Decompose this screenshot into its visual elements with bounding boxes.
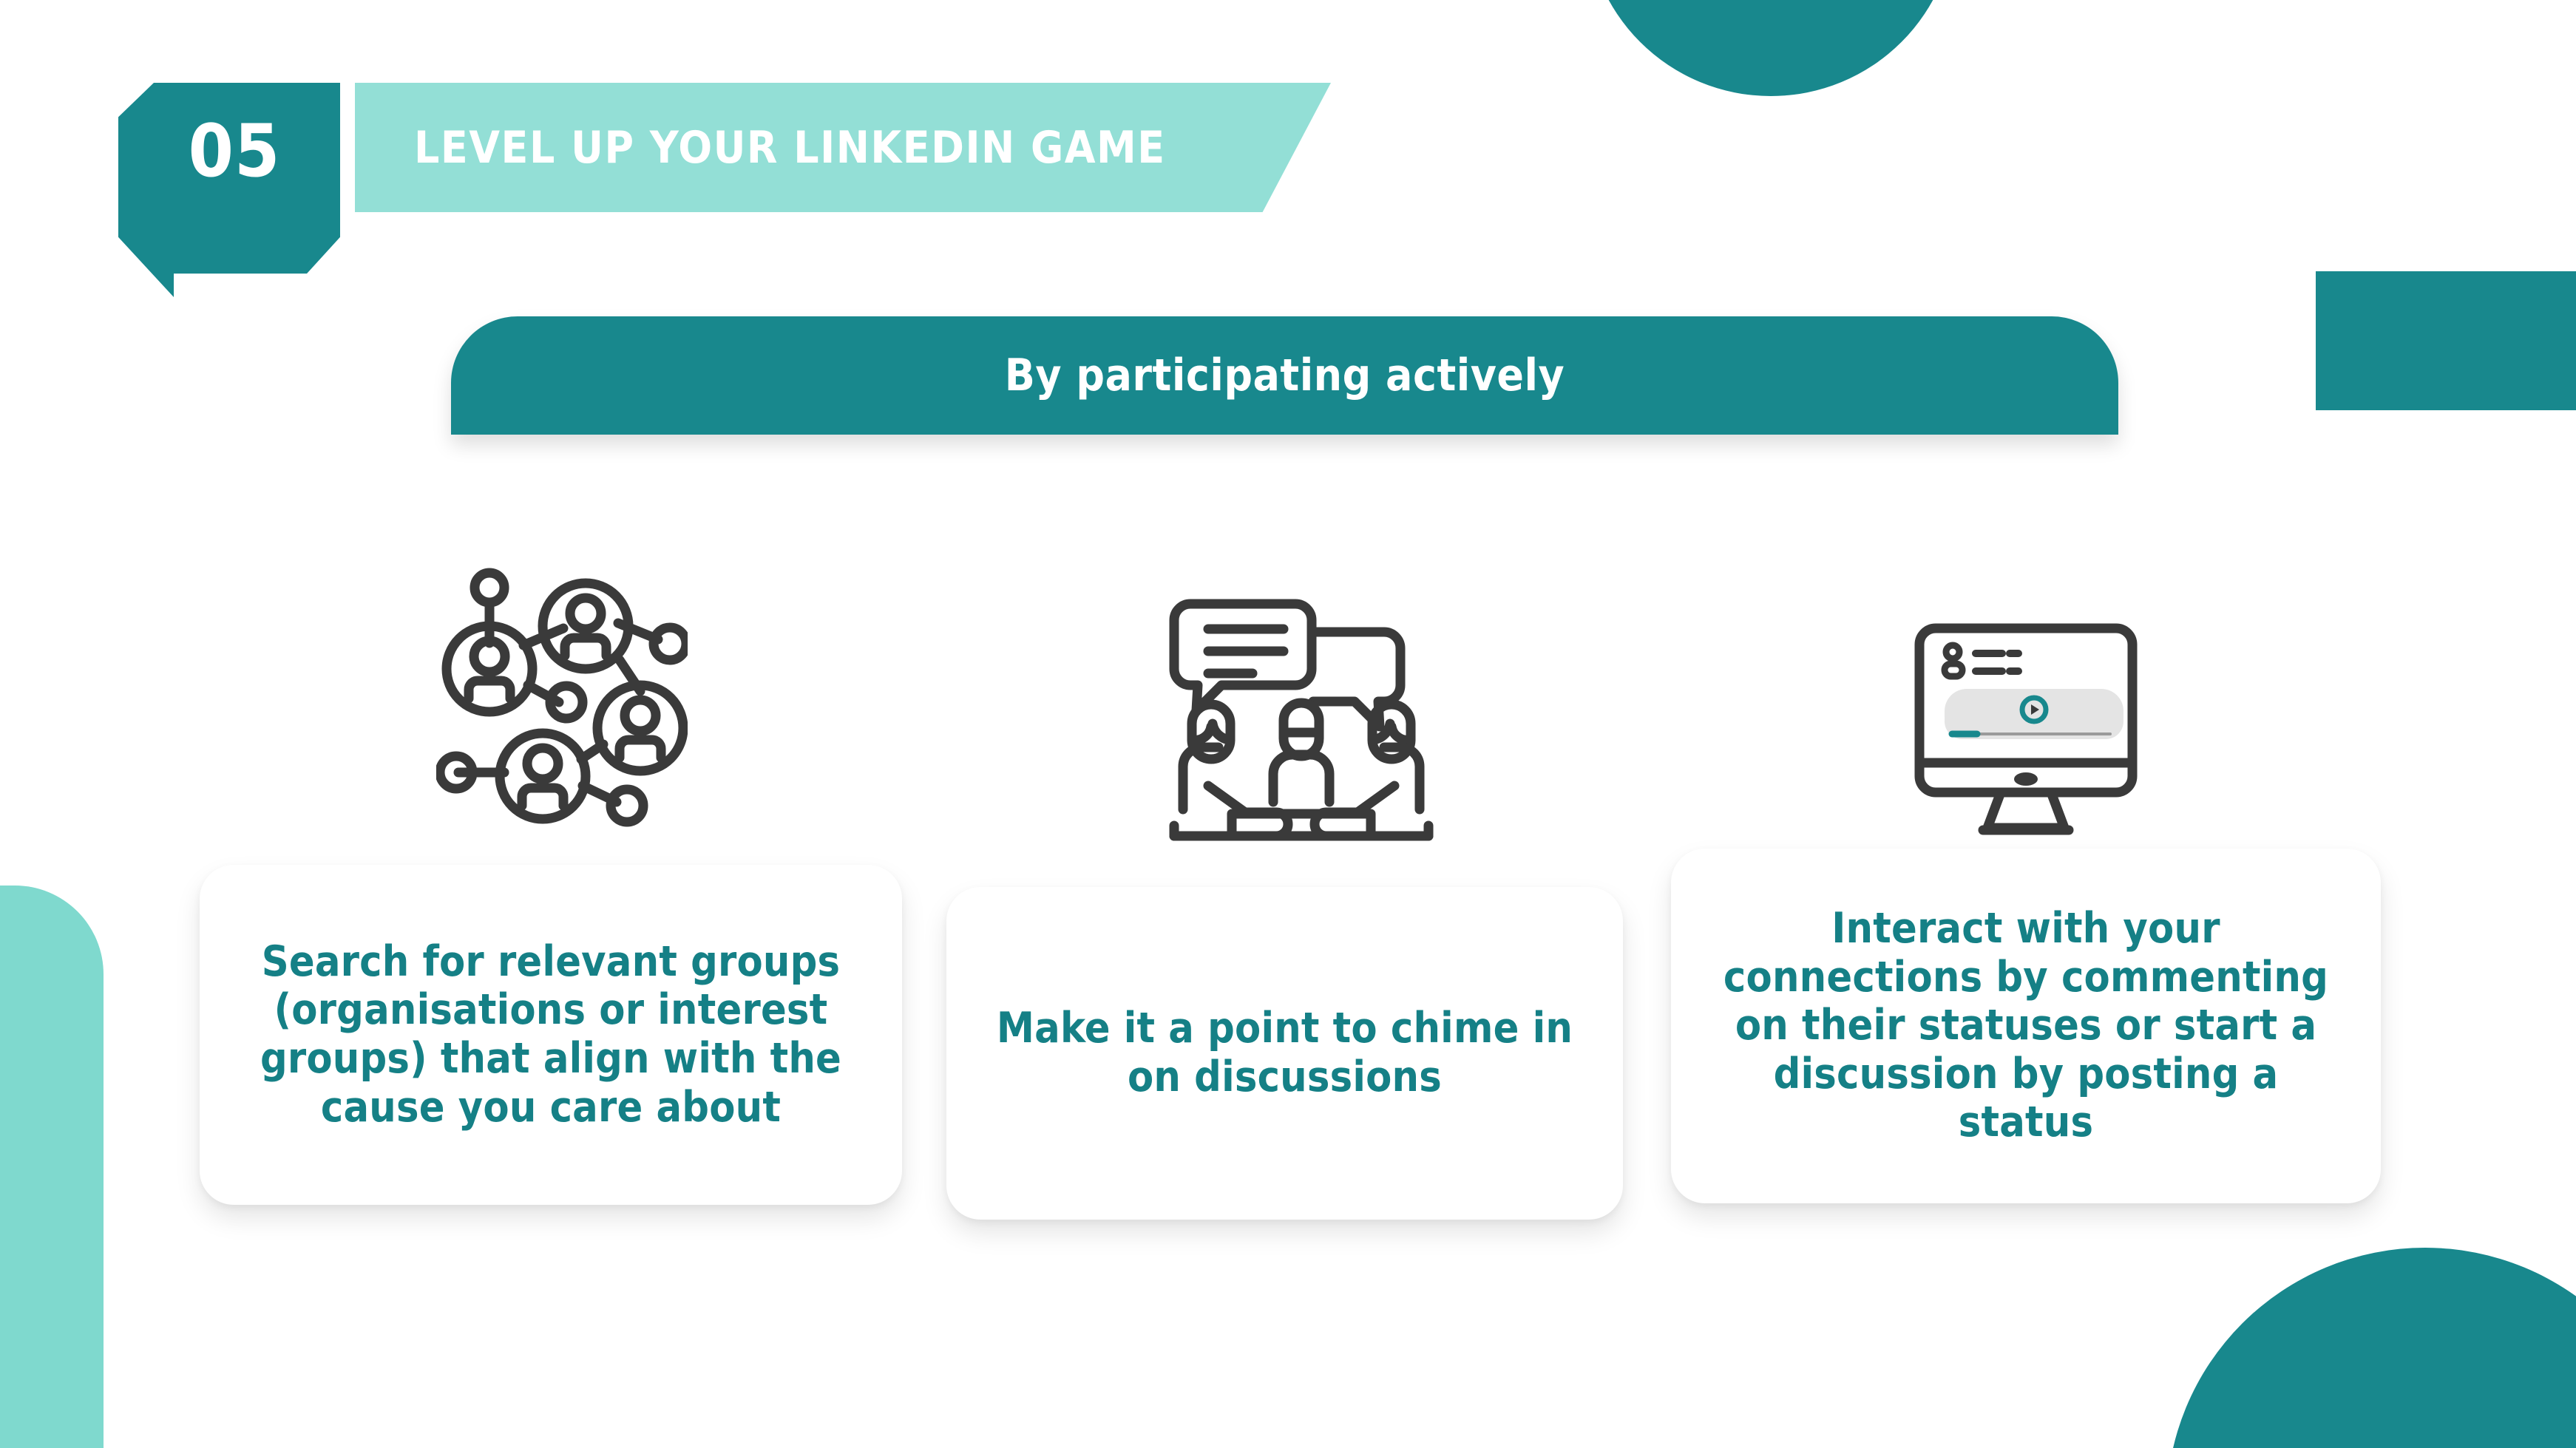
- header-banner: LEVEL UP YOUR LINKEDIN GAME: [355, 83, 1331, 212]
- section-number-label: 05: [189, 115, 281, 188]
- decor-top-right-ring: [1586, 0, 1956, 96]
- card-1[interactable]: Search for relevant groups (organisation…: [200, 865, 902, 1205]
- card-3-text: Interact with your connections by commen…: [1706, 905, 2345, 1147]
- desktop-monitor-post-icon: [1878, 591, 2174, 843]
- slide-canvas: LEVEL UP YOUR LINKEDIN GAME 05 By partic…: [0, 0, 2576, 1448]
- decor-right-edge-rectangle: [2316, 271, 2576, 410]
- decor-left-edge-block: [0, 886, 104, 1448]
- card-2[interactable]: Make it a point to chime in on discussio…: [946, 887, 1623, 1220]
- subtitle-bar: By participating actively: [451, 316, 2118, 435]
- people-network-icon: [414, 551, 710, 846]
- desktop-monitor-post-icon-svg: [1893, 606, 2159, 843]
- section-number-badge: 05: [118, 83, 340, 297]
- group-discussion-icon: [1153, 558, 1449, 854]
- page-title: LEVEL UP YOUR LINKEDIN GAME: [355, 122, 1166, 174]
- card-3[interactable]: Interact with your connections by commen…: [1671, 849, 2381, 1203]
- card-2-text: Make it a point to chime in on discussio…: [982, 1005, 1587, 1101]
- subtitle-text: By participating actively: [1005, 350, 1565, 401]
- group-discussion-icon-svg: [1161, 588, 1442, 854]
- card-1-text: Search for relevant groups (organisation…: [235, 938, 867, 1132]
- decor-bottom-right-circle: [2166, 1248, 2576, 1448]
- people-network-icon-svg: [436, 551, 688, 846]
